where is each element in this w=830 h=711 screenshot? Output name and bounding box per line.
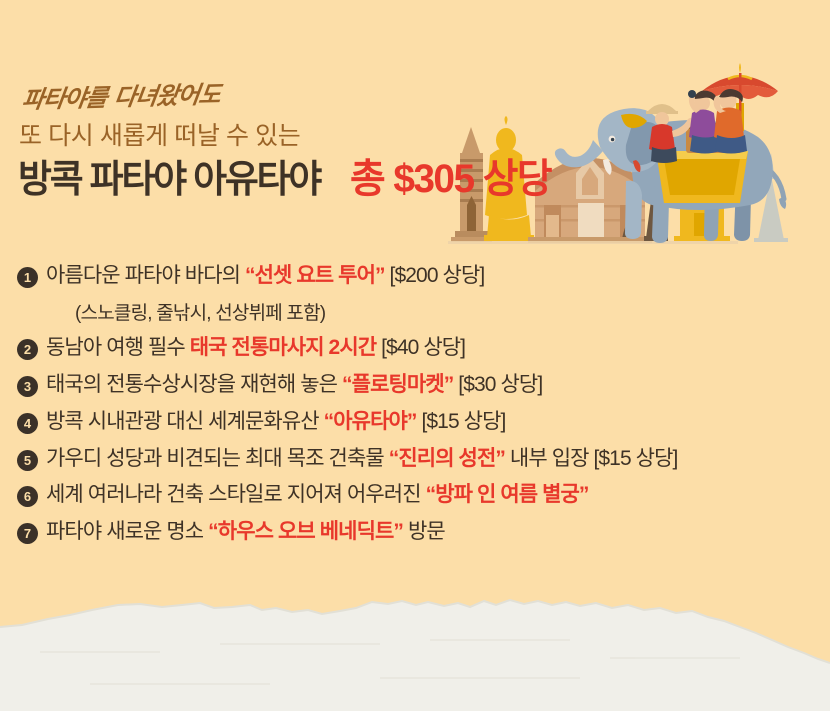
list-bullet-number: 1 bbox=[17, 267, 38, 288]
list-bullet-number: 3 bbox=[17, 376, 38, 397]
list-item: 1아름다운 파타야 바다의 “선셋 요트 투어” [$200 상당] bbox=[17, 263, 817, 290]
price-badge: 총 $305 상당 bbox=[350, 157, 551, 201]
page-title: 방콕 파타야 아유타야 bbox=[18, 160, 320, 202]
title-row: 방콕 파타야 아유타야 총 $305 상당 bbox=[18, 157, 718, 202]
list-item-text-pre: 파타야 새로운 명소 bbox=[46, 520, 208, 543]
list-item-highlight: “플로팅마켓” bbox=[342, 373, 453, 396]
list-item-price: [$15 상당] bbox=[417, 410, 506, 433]
list-item-text: 방콕 시내관광 대신 세계문화유산 “아유타야” [$15 상당] bbox=[46, 409, 505, 436]
list-item-highlight: “진리의 성전” bbox=[389, 447, 505, 470]
list-item-text: 아름다운 파타야 바다의 “선셋 요트 투어” [$200 상당] bbox=[46, 263, 484, 290]
list-item-text: 가우디 성당과 비견되는 최대 목조 건축물 “진리의 성전” 내부 입장 [$… bbox=[46, 446, 677, 473]
list-item-highlight: “아유타야” bbox=[324, 410, 417, 433]
list-item-highlight: “방파 인 여름 별궁” bbox=[426, 483, 589, 506]
list-item: 7파타야 새로운 명소 “하우스 오브 베네딕트” 방문 bbox=[17, 519, 817, 546]
list-item-text-pre: 아름다운 파타야 바다의 bbox=[46, 264, 245, 287]
list-item-highlight: 태국 전통마사지 2시간 bbox=[190, 336, 376, 359]
list-item-text-pre: 동남아 여행 필수 bbox=[46, 336, 190, 359]
list-item-price: 내부 입장 [$15 상당] bbox=[505, 447, 677, 470]
list-item-text-pre: 태국의 전통수상시장을 재현해 놓은 bbox=[46, 373, 342, 396]
list-item: 4방콕 시내관광 대신 세계문화유산 “아유타야” [$15 상당] bbox=[17, 409, 817, 436]
list-item: 2동남아 여행 필수 태국 전통마사지 2시간 [$40 상당] bbox=[17, 335, 817, 362]
offer-list: 1아름다운 파타야 바다의 “선셋 요트 투어” [$200 상당](스노클링,… bbox=[17, 263, 817, 556]
list-item-text: 태국의 전통수상시장을 재현해 놓은 “플로팅마켓” [$30 상당] bbox=[46, 372, 542, 399]
list-item-price: [$30 상당] bbox=[453, 373, 542, 396]
list-item-text-pre: 방콕 시내관광 대신 세계문화유산 bbox=[46, 410, 324, 433]
script-tagline: 파타야를 다녀왔어도 bbox=[20, 69, 722, 114]
list-bullet-number: 5 bbox=[17, 450, 38, 471]
list-item-price: [$200 상당] bbox=[385, 264, 485, 287]
list-item-note: (스노클링, 줄낚시, 선상뷔페 포함) bbox=[75, 298, 817, 325]
list-item-text: 동남아 여행 필수 태국 전통마사지 2시간 [$40 상당] bbox=[46, 335, 465, 362]
list-item-text: 파타야 새로운 명소 “하우스 오브 베네딕트” 방문 bbox=[46, 519, 445, 546]
subhead-line: 또 다시 새롭게 떠날 수 있는 bbox=[19, 123, 718, 151]
list-item-price: [$40 상당] bbox=[376, 336, 465, 359]
gray-stupa-icon bbox=[754, 153, 788, 242]
promo-poster: 파타야를 다녀왔어도 또 다시 새롭게 떠날 수 있는 방콕 파타야 아유타야 … bbox=[0, 0, 830, 711]
list-item: 3태국의 전통수상시장을 재현해 놓은 “플로팅마켓” [$30 상당] bbox=[17, 372, 817, 399]
list-item-highlight: “선셋 요트 투어” bbox=[245, 264, 385, 287]
list-item-text-pre: 가우디 성당과 비견되는 최대 목조 건축물 bbox=[46, 447, 389, 470]
header-block: 파타야를 다녀왔어도 또 다시 새롭게 떠날 수 있는 방콕 파타야 아유타야 … bbox=[18, 88, 718, 201]
list-item: 6세계 여러나라 건축 스타일로 지어져 어우러진 “방파 인 여름 별궁” bbox=[17, 482, 817, 509]
list-bullet-number: 6 bbox=[17, 486, 38, 507]
list-item-text-pre: 세계 여러나라 건축 스타일로 지어져 어우러진 bbox=[46, 483, 426, 506]
list-bullet-number: 2 bbox=[17, 339, 38, 360]
torn-paper-edge bbox=[0, 591, 830, 711]
list-bullet-number: 7 bbox=[17, 523, 38, 544]
list-item-highlight: “하우스 오브 베네딕트” bbox=[208, 520, 403, 543]
list-item: 5가우디 성당과 비견되는 최대 목조 건축물 “진리의 성전” 내부 입장 [… bbox=[17, 446, 817, 473]
list-item-text: 세계 여러나라 건축 스타일로 지어져 어우러진 “방파 인 여름 별궁” bbox=[46, 482, 589, 509]
list-bullet-number: 4 bbox=[17, 413, 38, 434]
list-item-price: 방문 bbox=[403, 520, 445, 543]
